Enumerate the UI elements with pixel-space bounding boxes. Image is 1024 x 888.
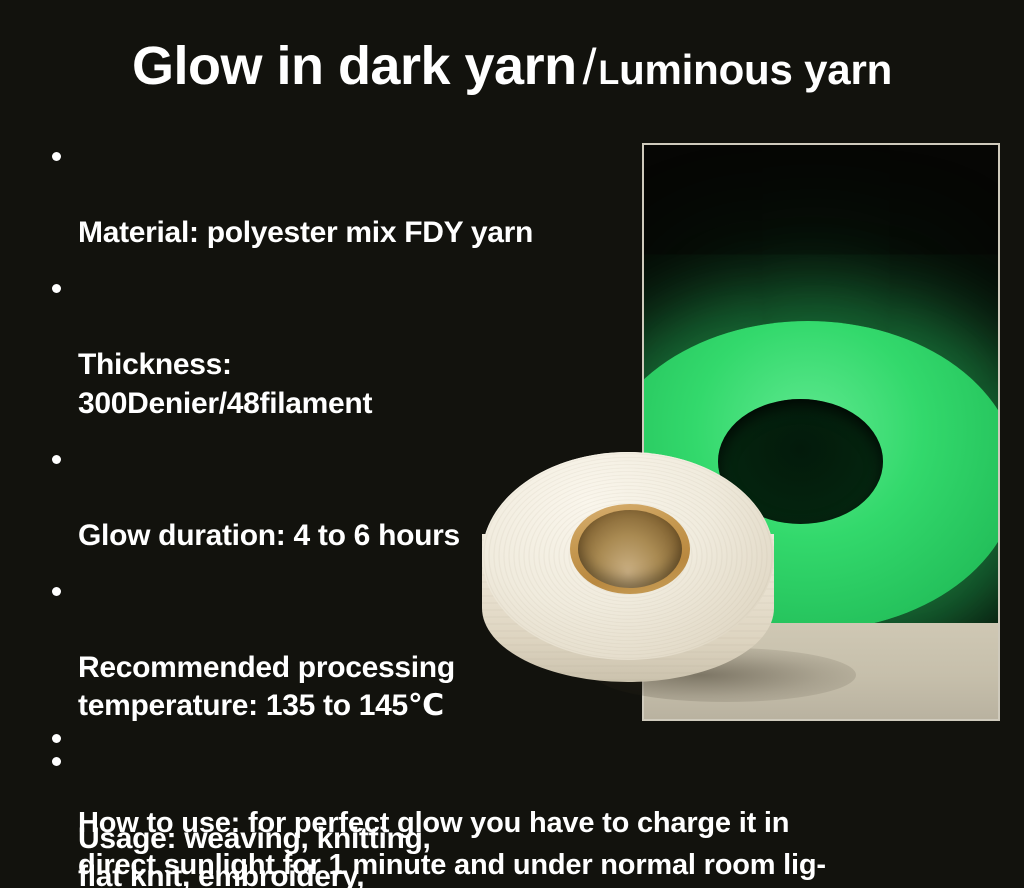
spec-item-thickness: Thickness: 300Denier/48filament	[44, 270, 664, 422]
title-sub-rest: uminous yarn	[619, 46, 892, 93]
how-to-use-block: How to use: for perfect glow you have to…	[44, 718, 1004, 888]
spec-item-glow-duration: Glow duration: 4 to 6 hours	[44, 441, 664, 555]
title-sub-text: Luminous yarn	[598, 46, 892, 93]
spec-item-temperature: Recommended processing temperature: 135 …	[44, 573, 598, 725]
title-sub-initial: L	[598, 54, 619, 92]
how-to-use-label: How to use: for perfect glow you have to…	[78, 807, 826, 888]
spec-item-label: Material: polyester mix FDY yarn	[78, 216, 533, 249]
product-poster: Glow in dark yarn/Luminous yarn Material…	[0, 0, 1024, 888]
title-separator: /	[577, 39, 599, 95]
spec-item-label: Thickness: 300Denier/48filament	[78, 348, 372, 419]
spec-item-label: Recommended processing temperature: 135 …	[78, 651, 455, 722]
spec-item-material: Material: polyester mix FDY yarn	[44, 138, 664, 252]
page-title: Glow in dark yarn/Luminous yarn	[0, 38, 1024, 96]
bullet-point-icon	[52, 734, 61, 743]
bullet-point-icon	[52, 152, 61, 161]
bullet-point-icon	[52, 587, 61, 596]
bullet-point-icon	[52, 284, 61, 293]
spec-item-label: Glow duration: 4 to 6 hours	[78, 519, 460, 552]
title-main-text: Glow in dark yarn	[132, 36, 577, 96]
bullet-point-icon	[52, 455, 61, 464]
